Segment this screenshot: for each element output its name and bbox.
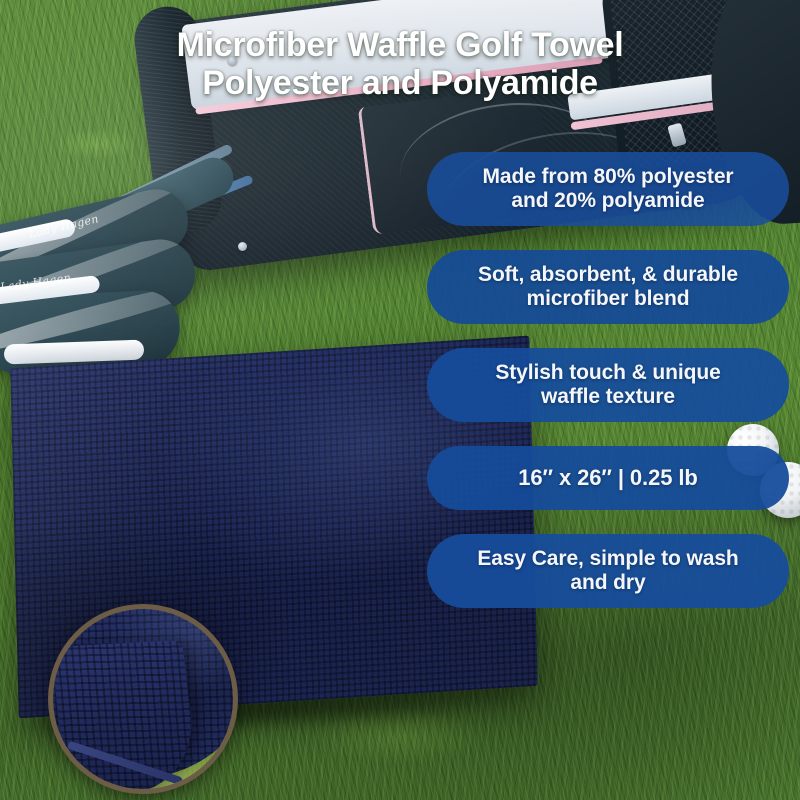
feature-badge-dimensions: 16″ x 26″ | 0.25 lb [427,446,789,510]
badge-line-2: microfiber blend [478,287,738,311]
badge-line-1: Made from 80% polyester [483,165,734,189]
waffle-texture-inset [48,604,238,794]
badge-line-2: and dry [477,571,738,595]
feature-badge-care: Easy Care, simple to wash and dry [427,534,789,608]
badge-line-2: waffle texture [495,385,720,409]
badge-line-1: Stylish touch & unique [495,361,720,385]
feature-badge-texture: Stylish touch & unique waffle texture [427,348,789,422]
badge-line-1: 16″ x 26″ | 0.25 lb [518,465,697,490]
badge-line-1: Soft, absorbent, & durable [478,263,738,287]
badge-line-1: Easy Care, simple to wash [477,547,738,571]
inset-towel-flap [50,640,200,794]
product-infographic: Lady Hagen Lady Hagen Microfiber Waffle … [0,0,800,800]
badge-line-2: and 20% polyamide [483,189,734,213]
feature-badge-softness: Soft, absorbent, & durable microfiber bl… [427,250,789,324]
feature-badge-material: Made from 80% polyester and 20% polyamid… [427,152,789,226]
